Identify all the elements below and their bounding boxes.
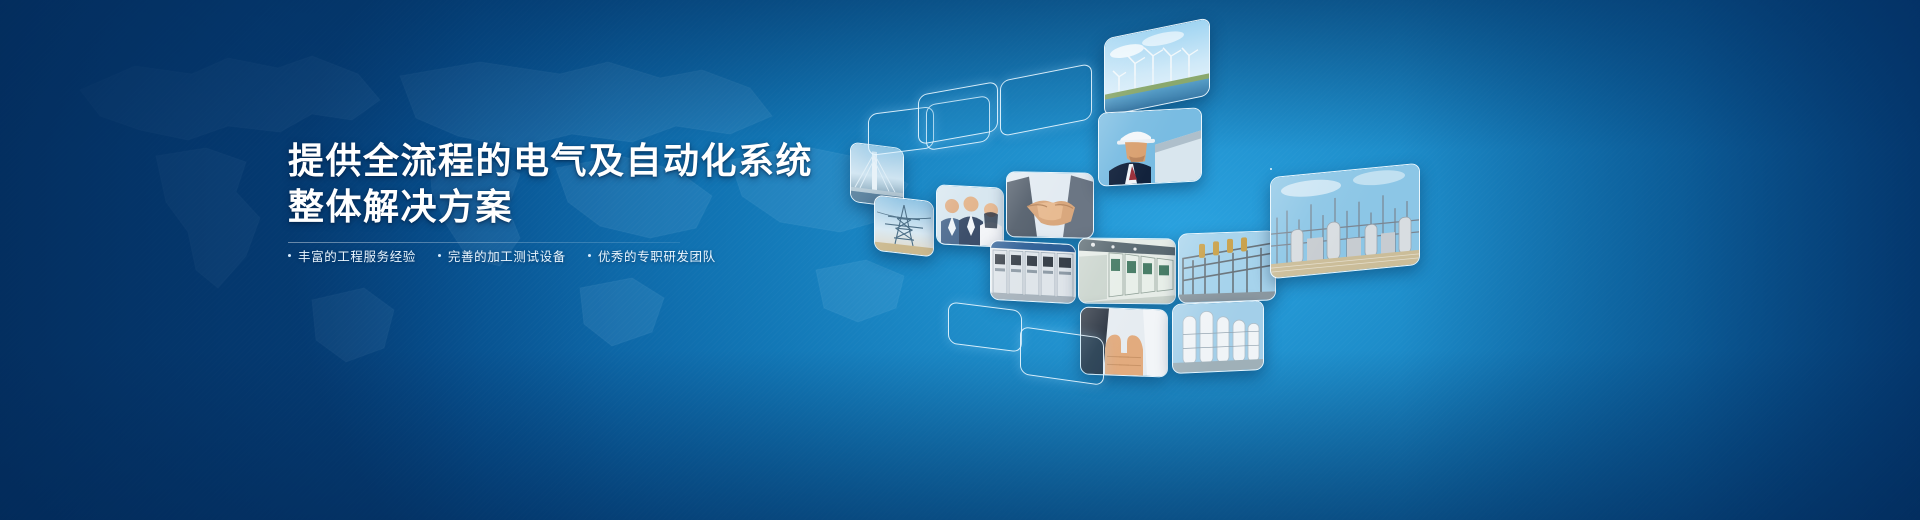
power-tower-image <box>875 196 933 257</box>
list-item: 丰富的工程服务经验 <box>288 246 416 265</box>
bullet-label: 完善的加工测试设备 <box>448 246 566 265</box>
collage-tile-control-cabinets <box>990 240 1076 305</box>
bullet-dot-icon <box>438 254 441 257</box>
collage-tile-refinery-panorama <box>1270 168 1272 170</box>
bullet-dot-icon <box>588 254 591 257</box>
control-cabinets-image <box>991 241 1075 303</box>
collage-tile-power-transmission-tower <box>874 195 934 258</box>
bullet-dot-icon <box>288 254 291 257</box>
feature-bullets: 丰富的工程服务经验 完善的加工测试设备 优秀的专职研发团队 <box>288 246 738 265</box>
bullet-label: 优秀的专职研发团队 <box>598 246 716 265</box>
hero-banner: 提供全流程的电气及自动化系统 整体解决方案 丰富的工程服务经验 完善的加工测试设… <box>0 0 1920 520</box>
collage-tile-empty-frame-bottom-left <box>948 301 1022 352</box>
handshake-image <box>1007 172 1093 238</box>
collage-tile-wind-turbines <box>1104 17 1210 117</box>
collage-tile-empty-frame-mid2 <box>1000 63 1092 137</box>
bullet-label: 丰富的工程服务经验 <box>298 246 416 265</box>
list-item: 优秀的专职研发团队 <box>588 246 716 265</box>
collage-tile-handshake <box>1006 171 1094 239</box>
list-item: 完善的加工测试设备 <box>438 246 566 265</box>
gas-tanks-image <box>1173 301 1263 373</box>
collage-tile-business-team <box>936 184 1004 248</box>
collage-tile-gas-storage-tanks <box>1172 300 1264 374</box>
divider <box>288 242 680 243</box>
refinery-image <box>1271 164 1419 278</box>
image-collage <box>830 0 1920 520</box>
business-team-image <box>937 185 1003 246</box>
wind-turbines-image <box>1105 18 1209 115</box>
collage-tile-refinery <box>1270 163 1420 279</box>
